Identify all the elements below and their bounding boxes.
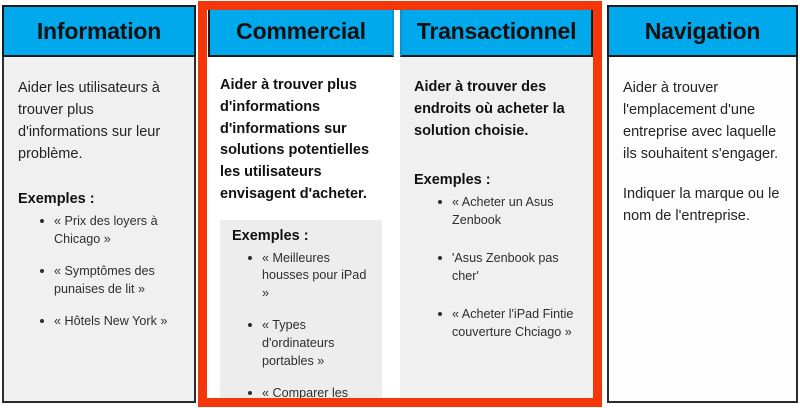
examples-list-commercial: « Meilleures housses pour iPad » « Types… xyxy=(226,250,372,404)
column-information: Information Aider les utilisateurs à tro… xyxy=(2,0,196,408)
list-item: « Meilleures housses pour iPad » xyxy=(248,250,372,304)
column-transactionnel: Transactionnel Aider à trouver des endro… xyxy=(400,0,593,408)
list-item: « Acheter l'iPad Fintie couverture Chcia… xyxy=(438,306,579,342)
list-item: « Symptômes des punaises de lit » xyxy=(40,263,180,299)
examples-block-commercial: Exemples : « Meilleures housses pour iPa… xyxy=(220,220,382,404)
column-title-navigation: Navigation xyxy=(645,18,761,45)
examples-title-transactionnel: Exemples : xyxy=(414,172,579,188)
examples-title-commercial: Exemples : xyxy=(232,228,372,244)
examples-list-information: « Prix des loyers à Chicago » « Symptôme… xyxy=(18,213,180,330)
list-item: « Hôtels New York » xyxy=(40,313,180,331)
column-header-information: Information xyxy=(2,5,196,57)
examples-block-information: Exemples : « Prix des loyers à Chicago »… xyxy=(18,191,180,330)
column-body-transactionnel: Aider à trouver des endroits où acheter … xyxy=(400,57,593,403)
column-body-commercial: Aider à trouver plus d'informations d'in… xyxy=(208,57,394,403)
column-commercial: Commercial Aider à trouver plus d'inform… xyxy=(208,0,394,408)
column-lead2-navigation: Indiquer la marque ou le nom de l'entrep… xyxy=(623,183,782,227)
examples-title-information: Exemples : xyxy=(18,191,180,207)
list-item: « Types d'ordinateurs portables » xyxy=(248,317,372,371)
search-intent-table: Information Aider les utilisateurs à tro… xyxy=(0,0,800,408)
column-body-information: Aider les utilisateurs à trouver plus d'… xyxy=(2,57,196,403)
column-lead-commercial: Aider à trouver plus d'informations d'in… xyxy=(220,75,382,206)
examples-block-transactionnel: Exemples : « Acheter un Asus Zenbook 'As… xyxy=(414,172,579,341)
column-header-navigation: Navigation xyxy=(607,5,798,57)
column-title-information: Information xyxy=(37,18,161,45)
list-item: « Prix des loyers à Chicago » xyxy=(40,213,180,249)
list-item: « Comparer les ordinateurs portables Asu… xyxy=(248,385,372,403)
column-header-transactionnel: Transactionnel xyxy=(400,5,593,57)
list-item: « Acheter un Asus Zenbook xyxy=(438,194,579,230)
column-navigation: Navigation Aider à trouver l'emplacement… xyxy=(607,0,798,408)
column-title-transactionnel: Transactionnel xyxy=(417,18,577,45)
column-header-commercial: Commercial xyxy=(208,5,394,57)
column-lead-navigation: Aider à trouver l'emplacement d'une entr… xyxy=(623,77,782,165)
column-lead-transactionnel: Aider à trouver des endroits où acheter … xyxy=(414,77,579,142)
column-title-commercial: Commercial xyxy=(236,18,366,45)
list-item: 'Asus Zenbook pas cher' xyxy=(438,250,579,286)
column-lead-information: Aider les utilisateurs à trouver plus d'… xyxy=(18,77,180,165)
column-body-navigation: Aider à trouver l'emplacement d'une entr… xyxy=(607,57,798,403)
examples-list-transactionnel: « Acheter un Asus Zenbook 'Asus Zenbook … xyxy=(414,194,579,341)
